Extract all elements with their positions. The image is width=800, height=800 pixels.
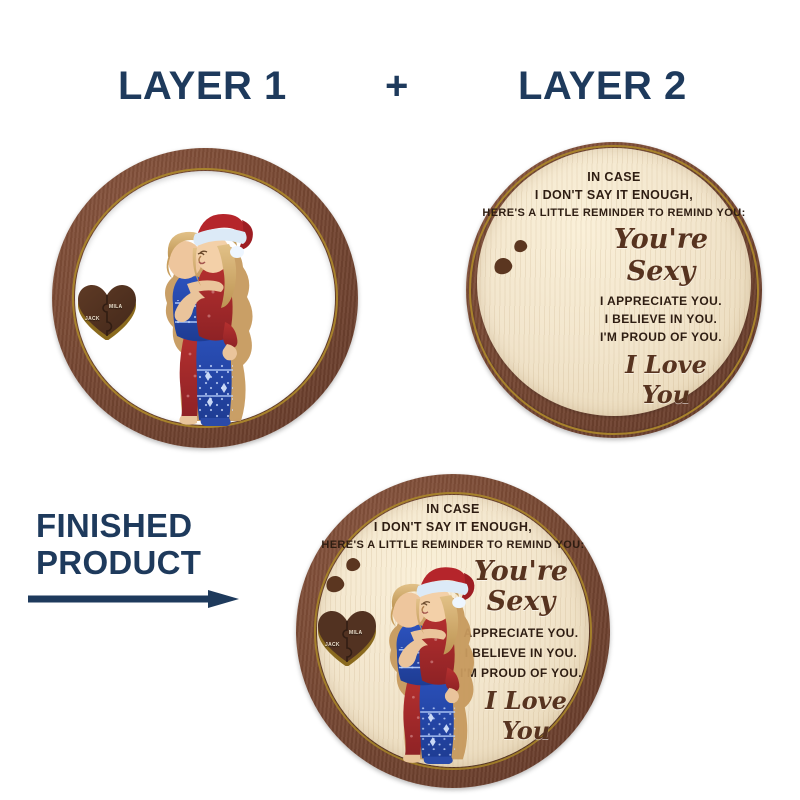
message-line-3: HERE'S A LITTLE REMINDER TO REMIND YOU: [296,539,610,551]
name-right: MILA [349,630,362,636]
script-sexy: Sexy [586,256,736,287]
mockup-canvas: LAYER 1 + LAYER 2 JACK MILA [0,0,800,800]
layer1-artwork: JACK MILA [52,148,358,448]
message-line-5: I BELIEVE IN YOU. [576,312,746,326]
couple-kissing-illustration [137,204,269,426]
finished-line-1: FINISHED PRODUCT [36,508,276,582]
layer2-heading: LAYER 2 [518,64,687,109]
finished-product-label: FINISHED PRODUCT [36,508,276,582]
arrow-right-icon [26,588,241,610]
finished-product-artwork: IN CASE I DON'T SAY IT ENOUGH, HERE'S A … [296,474,610,788]
message-line-1: IN CASE [466,170,762,184]
script-i-love: I Love [586,350,746,379]
message-line-2: I DON'T SAY IT ENOUGH, [296,520,610,534]
name-right: MILA [109,304,122,310]
message-line-4: I APPRECIATE YOU. [576,294,746,308]
message-line-3: HERE'S A LITTLE REMINDER TO REMIND YOU: [466,207,762,219]
message-line-6: I'M PROUD OF YOU. [576,330,746,344]
name-left: JACK [85,316,100,322]
plus-sign: + [385,64,409,109]
name-left: JACK [325,642,340,648]
message-line-1: IN CASE [296,502,610,516]
layer1-heading: LAYER 1 [118,64,287,109]
layer2-artwork: IN CASE I DON'T SAY IT ENOUGH, HERE'S A … [466,142,762,438]
heart-puzzle-icon: JACK MILA [76,284,138,340]
message-line-2: I DON'T SAY IT ENOUGH, [466,188,762,202]
script-youre: You're [586,224,736,255]
couple-kissing-illustration [362,558,490,764]
script-you: You [586,380,746,409]
